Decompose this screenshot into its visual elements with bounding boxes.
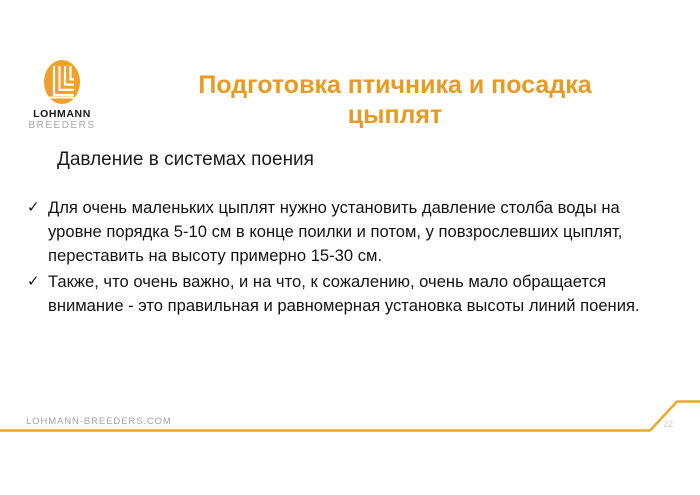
bullet-item-text: Также, что очень важно, и на что, к сожа… — [48, 272, 640, 315]
slide-subtitle: Давление в системах поения — [57, 148, 314, 172]
footer-website-label: LOHMANN-BREEDERS.COM — [26, 416, 172, 427]
logo-wordmark-primary: LOHMANN — [26, 108, 98, 120]
slide-title-line-2: цыплят — [348, 101, 443, 129]
brand-logo: LOHMANN BREEDERS — [26, 57, 98, 132]
slide-canvas: LOHMANN BREEDERS Подготовка птичника и п… — [0, 0, 700, 495]
lohmann-egg-logo-icon — [41, 57, 83, 105]
slide-title: Подготовка птичника и посадка цыплят — [150, 70, 640, 130]
checkmark-icon: ✓ — [27, 270, 40, 294]
slide-title-line-1: Подготовка птичника и посадка — [198, 71, 591, 99]
bullet-item: ✓ Также, что очень важно, и на что, к со… — [26, 270, 646, 318]
bullet-list: ✓ Для очень маленьких цыплят нужно устан… — [26, 196, 646, 320]
bullet-item-text: Для очень маленьких цыплят нужно установ… — [48, 198, 622, 265]
logo-wordmark-secondary: BREEDERS — [26, 120, 98, 132]
bullet-item: ✓ Для очень маленьких цыплят нужно устан… — [26, 196, 646, 268]
checkmark-icon: ✓ — [27, 196, 40, 220]
page-number: 22 — [663, 419, 673, 429]
